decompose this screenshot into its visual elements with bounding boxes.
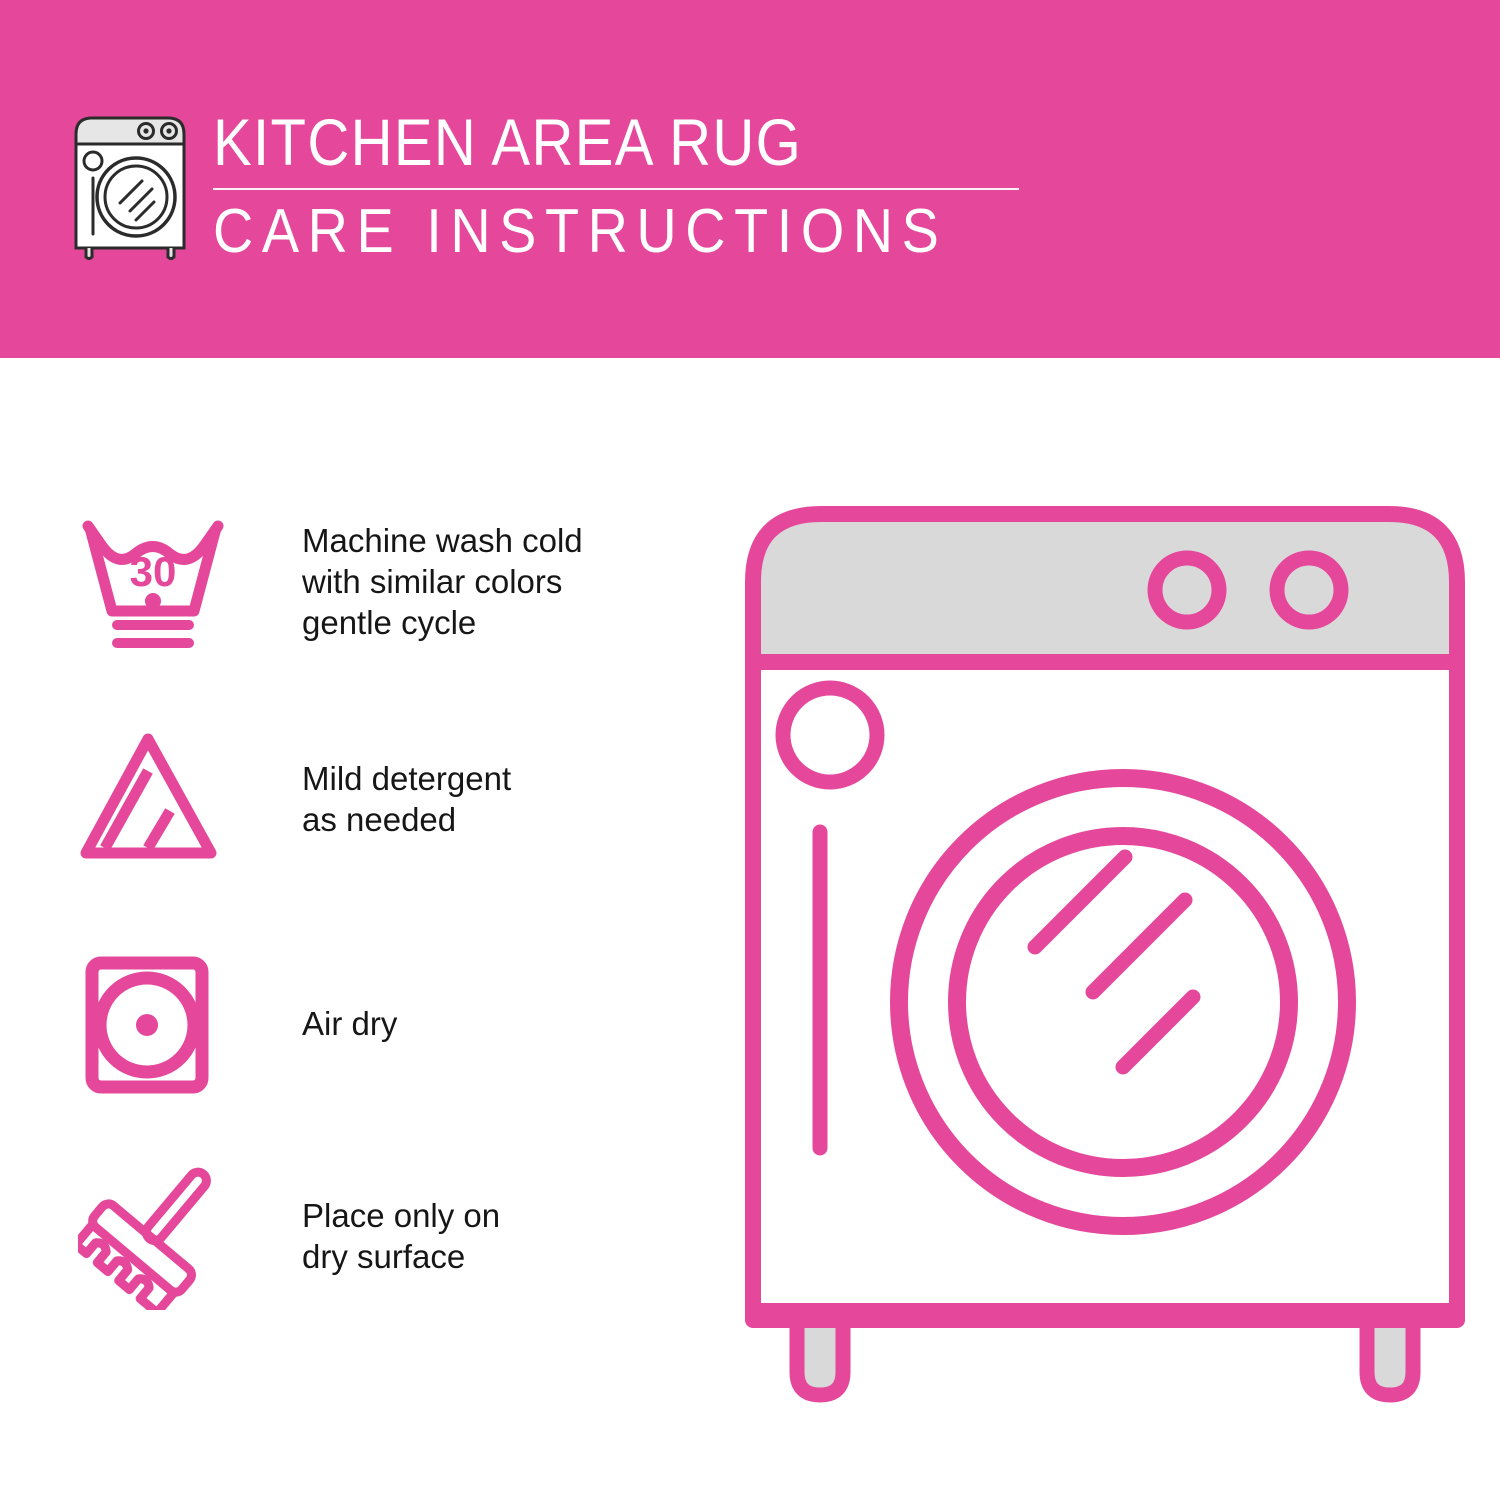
bleach-triangle-icon bbox=[78, 725, 228, 875]
care-item-label: Air dry bbox=[302, 1003, 642, 1044]
broom-icon bbox=[78, 1160, 228, 1310]
header-band: KITCHEN AREA RUG CARE INSTRUCTIONS bbox=[0, 0, 1500, 358]
page-title: KITCHEN AREA RUG bbox=[213, 105, 926, 179]
care-item-label: Place only on dry surface bbox=[302, 1195, 642, 1277]
title-divider bbox=[213, 188, 1019, 190]
care-item-label: Mild detergent as needed bbox=[302, 758, 642, 840]
header-text-block: KITCHEN AREA RUG CARE INSTRUCTIONS bbox=[213, 105, 1023, 268]
large-washing-machine-illustration bbox=[735, 492, 1475, 1417]
washing-machine-icon bbox=[68, 108, 192, 260]
indicator-circle bbox=[783, 688, 877, 782]
control-panel-fill bbox=[753, 514, 1457, 662]
care-item-label: Machine wash cold with similar colors ge… bbox=[302, 520, 642, 643]
door-inner-ring bbox=[957, 836, 1289, 1168]
door-outer-ring bbox=[899, 778, 1347, 1226]
wash-tub-30-gentle-icon: 30 bbox=[78, 508, 228, 658]
wash-temperature-value: 30 bbox=[130, 548, 177, 595]
care-instructions-page: KITCHEN AREA RUG CARE INSTRUCTIONS 30 Ma… bbox=[0, 0, 1500, 1500]
door-stripes bbox=[1035, 857, 1193, 1067]
tumble-dry-square-icon bbox=[78, 955, 228, 1105]
care-instruction-list: 30 Machine wash cold with similar colors… bbox=[0, 360, 680, 1500]
page-subtitle: CARE INSTRUCTIONS bbox=[213, 196, 942, 268]
